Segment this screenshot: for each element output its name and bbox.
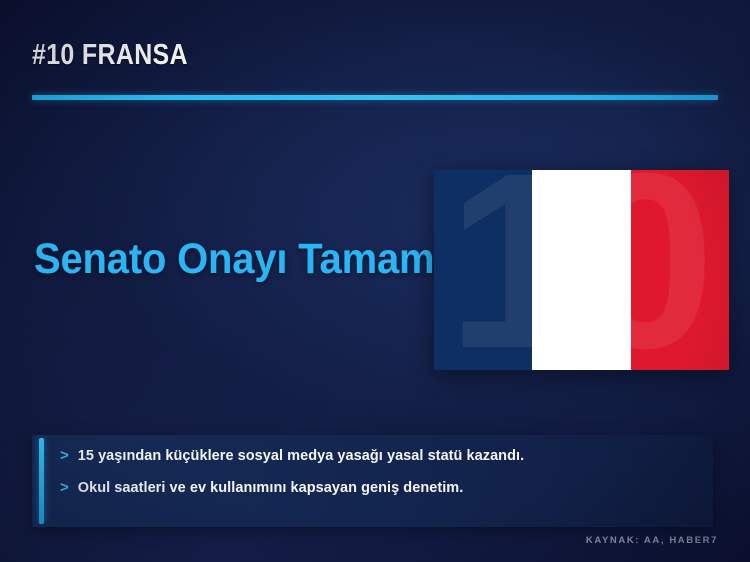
source-attribution: KAYNAK: AA, HABER7 <box>586 535 718 546</box>
headline: Senato Onayı Tamam <box>34 238 434 281</box>
france-flag-icon: 10 <box>434 170 729 370</box>
chevron-right-icon: > <box>60 448 69 463</box>
flag-band-red <box>631 170 729 370</box>
slide-root: #10 FRANSA Senato Onayı Tamam 10 10 > 15… <box>0 0 750 562</box>
bullets-list: > 15 yaşından küçüklere sosyal medya yas… <box>60 448 699 512</box>
chevron-right-icon: > <box>60 480 69 495</box>
flag-band-blue <box>434 170 532 370</box>
flag-band-white <box>532 170 630 370</box>
list-item-label: Okul saatleri ve ev kullanımını kapsayan… <box>78 480 464 497</box>
panel-accent-bar <box>39 438 44 524</box>
list-item-label: 15 yaşından küçüklere sosyal medya yasağ… <box>78 448 524 465</box>
flag-block: 10 10 <box>434 170 729 370</box>
list-item: > 15 yaşından küçüklere sosyal medya yas… <box>60 448 699 480</box>
list-item: > Okul saatleri ve ev kullanımını kapsay… <box>60 480 699 512</box>
bullets-panel: > 15 yaşından küçüklere sosyal medya yas… <box>32 435 713 527</box>
rank-kicker: #10 FRANSA <box>32 41 188 70</box>
header-divider <box>32 95 718 100</box>
